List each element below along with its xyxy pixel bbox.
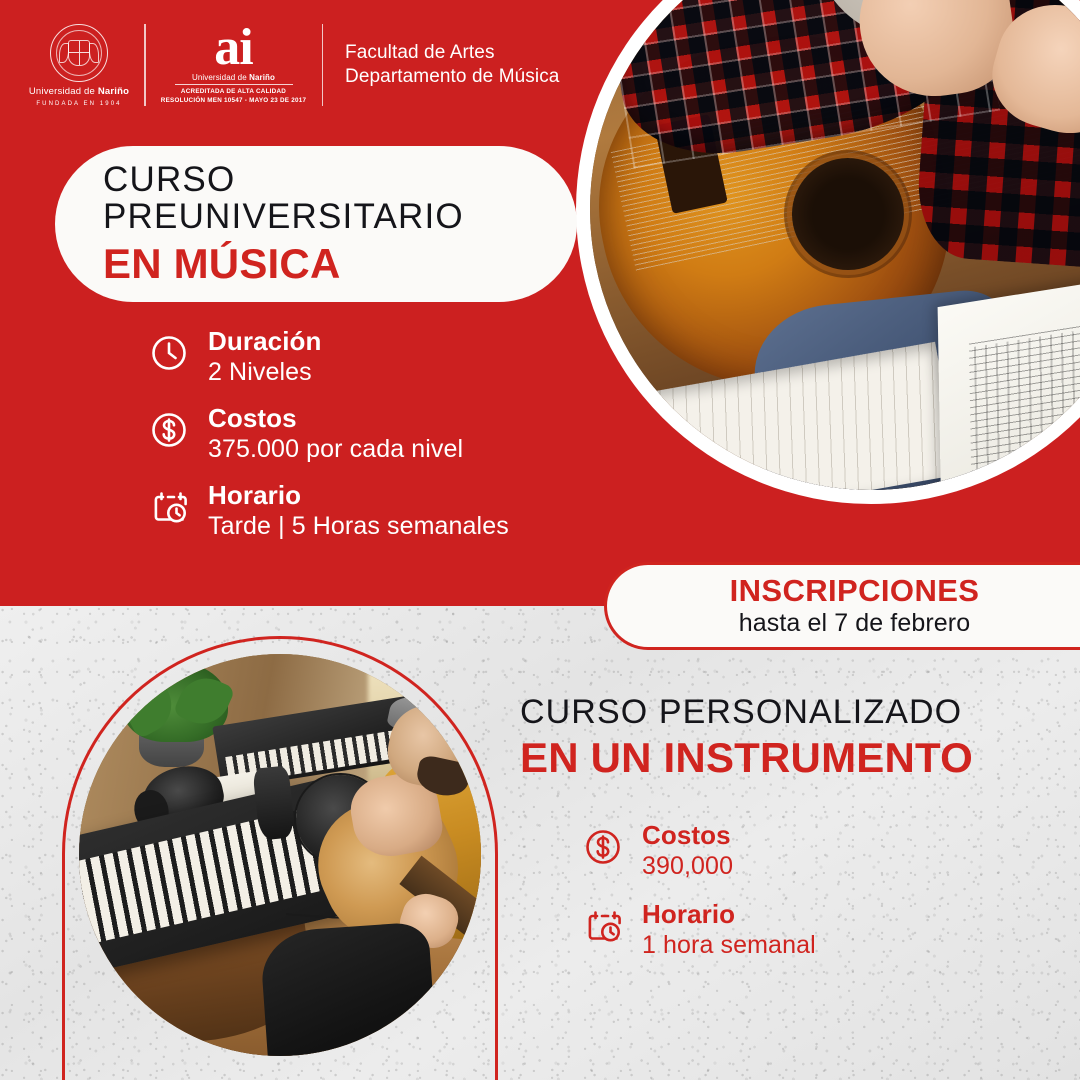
course-bottom-details: Costos 390,000 Horario 1 hora semanal — [582, 822, 1022, 980]
detail-text-duracion: Duración 2 Niveles — [208, 328, 321, 385]
schedule-icon — [582, 905, 624, 947]
header-divider-2 — [322, 24, 324, 106]
course-bottom-title-line-1: CURSO PERSONALIZADO — [520, 694, 1060, 731]
studio-photo — [79, 654, 481, 1056]
seal-shield-icon — [68, 40, 90, 66]
hero-photo — [590, 0, 1080, 490]
faculty-line-2: Departamento de Música — [345, 65, 559, 89]
inscriptions-banner: INSCRIPCIONES hasta el 7 de febrero — [604, 562, 1080, 650]
detail-value-costos-bottom: 390,000 — [642, 853, 733, 880]
university-seal: Universidad de Nariño FUNDADA EN 1904 — [36, 24, 122, 107]
detail-row-costos-bottom: Costos 390,000 — [582, 822, 1022, 879]
ai-monogram: ai — [214, 24, 252, 72]
ai-univ-light: Universidad de — [192, 73, 249, 82]
schedule-icon — [148, 486, 190, 528]
detail-text-horario-bottom: Horario 1 hora semanal — [642, 901, 816, 958]
header-logos: Universidad de Nariño FUNDADA EN 1904 ai… — [0, 0, 560, 130]
header-divider-1 — [144, 24, 146, 106]
detail-label-costos-bottom: Costos — [642, 822, 733, 850]
seal-name-bold: Nariño — [98, 86, 129, 97]
detail-row-horario: Horario Tarde | 5 Horas semanales — [148, 482, 578, 539]
detail-label-costos: Costos — [208, 405, 463, 433]
course-top-details: Duración 2 Niveles Costos 375.000 por ca… — [148, 328, 578, 539]
hero-title-line-1: CURSO PREUNIVERSITARIO — [103, 161, 577, 235]
detail-value-horario: Tarde | 5 Horas semanales — [208, 513, 509, 540]
accreditation-line-2: RESOLUCIÓN MEN 10547 - MAYO 23 DE 2017 — [161, 96, 306, 105]
detail-text-horario: Horario Tarde | 5 Horas semanales — [208, 482, 509, 539]
hero-title-line-2: EN MÚSICA — [103, 240, 577, 287]
ai-univ-bold: Nariño — [249, 73, 275, 82]
seal-leaf-right-icon — [89, 43, 99, 63]
clock-icon — [148, 332, 190, 374]
detail-row-duracion: Duración 2 Niveles — [148, 328, 578, 385]
hero-title-pill: CURSO PREUNIVERSITARIO EN MÚSICA — [55, 146, 577, 302]
detail-row-horario-bottom: Horario 1 hora semanal — [582, 901, 1022, 958]
faculty-title: Facultad de Artes Departamento de Música — [345, 41, 559, 89]
detail-label-horario-bottom: Horario — [642, 901, 816, 929]
seal-crest-icon — [50, 24, 108, 82]
detail-label-duracion: Duración — [208, 328, 321, 356]
ai-logo: ai Universidad de Nariño ACREDITADA DE A… — [168, 24, 300, 106]
detail-value-horario-bottom: 1 hora semanal — [642, 932, 816, 959]
dollar-icon — [148, 409, 190, 451]
ai-university-name: Universidad de Nariño — [192, 73, 275, 82]
ai-accreditation: ACREDITADA DE ALTA CALIDAD RESOLUCIÓN ME… — [161, 87, 306, 106]
hero-photo-ring — [576, 0, 1080, 504]
detail-value-costos: 375.000 por cada nivel — [208, 436, 463, 463]
detail-row-costos: Costos 375.000 por cada nivel — [148, 405, 578, 462]
inscriptions-title: INSCRIPCIONES — [730, 575, 980, 607]
course-bottom-title: CURSO PERSONALIZADO EN UN INSTRUMENTO — [520, 694, 1060, 782]
studio-photo-arch — [62, 636, 498, 1080]
ai-rule — [175, 84, 293, 85]
faculty-line-1: Facultad de Artes — [345, 41, 559, 65]
detail-value-duracion: 2 Niveles — [208, 359, 321, 386]
poster-canvas: Universidad de Nariño FUNDADA EN 1904 ai… — [0, 0, 1080, 1080]
course-bottom-title-line-2: EN UN INSTRUMENTO — [520, 734, 1060, 782]
musician-legs — [259, 922, 438, 1056]
seal-founded: FUNDADA EN 1904 — [36, 101, 121, 107]
seal-name: Universidad de Nariño — [29, 86, 129, 97]
detail-text-costos: Costos 375.000 por cada nivel — [208, 405, 463, 462]
seal-name-light: Universidad de — [29, 86, 98, 97]
detail-label-horario: Horario — [208, 482, 509, 510]
inscriptions-deadline: hasta el 7 de febrero — [739, 609, 970, 637]
detail-text-costos-bottom: Costos 390,000 — [642, 822, 733, 879]
dollar-icon — [582, 826, 624, 868]
accreditation-line-1: ACREDITADA DE ALTA CALIDAD — [161, 87, 306, 96]
